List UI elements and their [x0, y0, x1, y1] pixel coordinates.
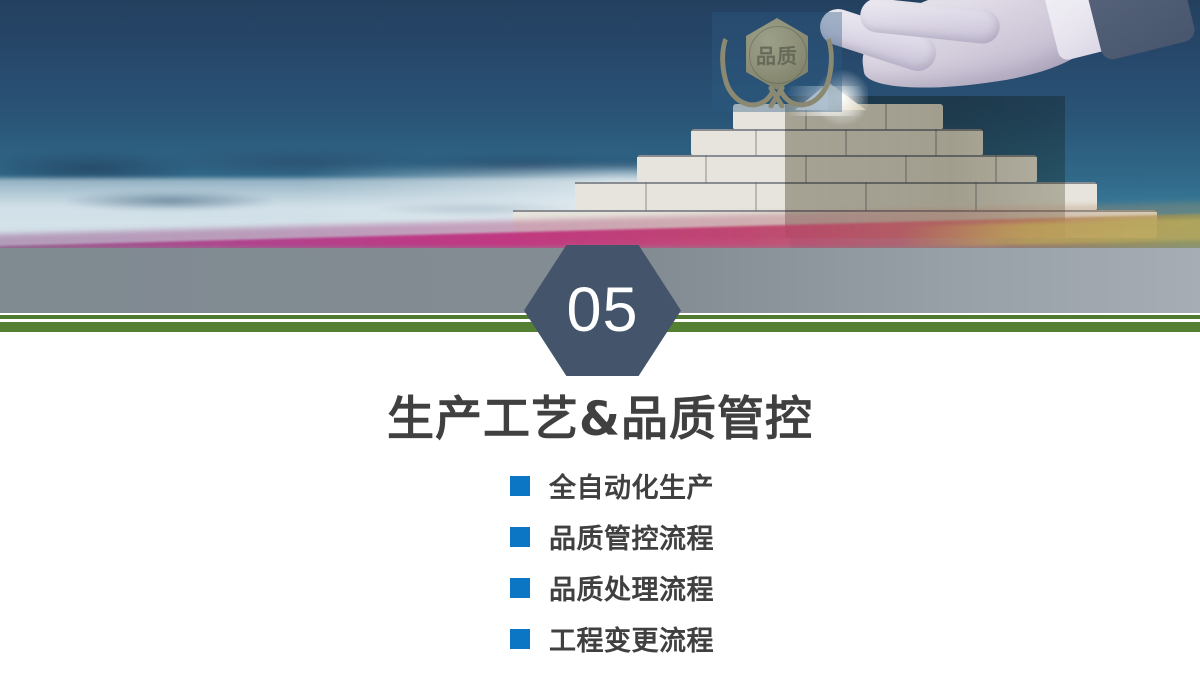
- list-item[interactable]: 工程变更流程: [0, 613, 1200, 664]
- gloved-hand-icon: [800, 0, 1130, 130]
- page-title: 生产工艺&品质管控: [0, 380, 1200, 449]
- list-item-label: 工程变更流程: [549, 619, 714, 658]
- bullet-square-icon: [510, 629, 530, 649]
- list-item[interactable]: 品质管控流程: [0, 511, 1200, 562]
- section-number-text: 05: [566, 279, 638, 342]
- quality-medal-icon: 品质: [712, 12, 842, 112]
- bullet-list: 全自动化生产 品质管控流程 品质处理流程 工程变更流程: [0, 460, 1200, 664]
- bullet-square-icon: [510, 578, 530, 598]
- list-item[interactable]: 全自动化生产: [0, 460, 1200, 511]
- bullet-square-icon: [510, 476, 530, 496]
- bullet-square-icon: [510, 527, 530, 547]
- presentation-slide: 品质 05 生产工艺&品质管控 全自动化生产 品质管控: [0, 0, 1200, 674]
- list-item-label: 全自动化生产: [549, 466, 714, 505]
- list-item[interactable]: 品质处理流程: [0, 562, 1200, 613]
- list-item-label: 品质管控流程: [549, 517, 714, 556]
- list-item-label: 品质处理流程: [549, 568, 714, 607]
- medal-overlay-veil: [712, 12, 842, 112]
